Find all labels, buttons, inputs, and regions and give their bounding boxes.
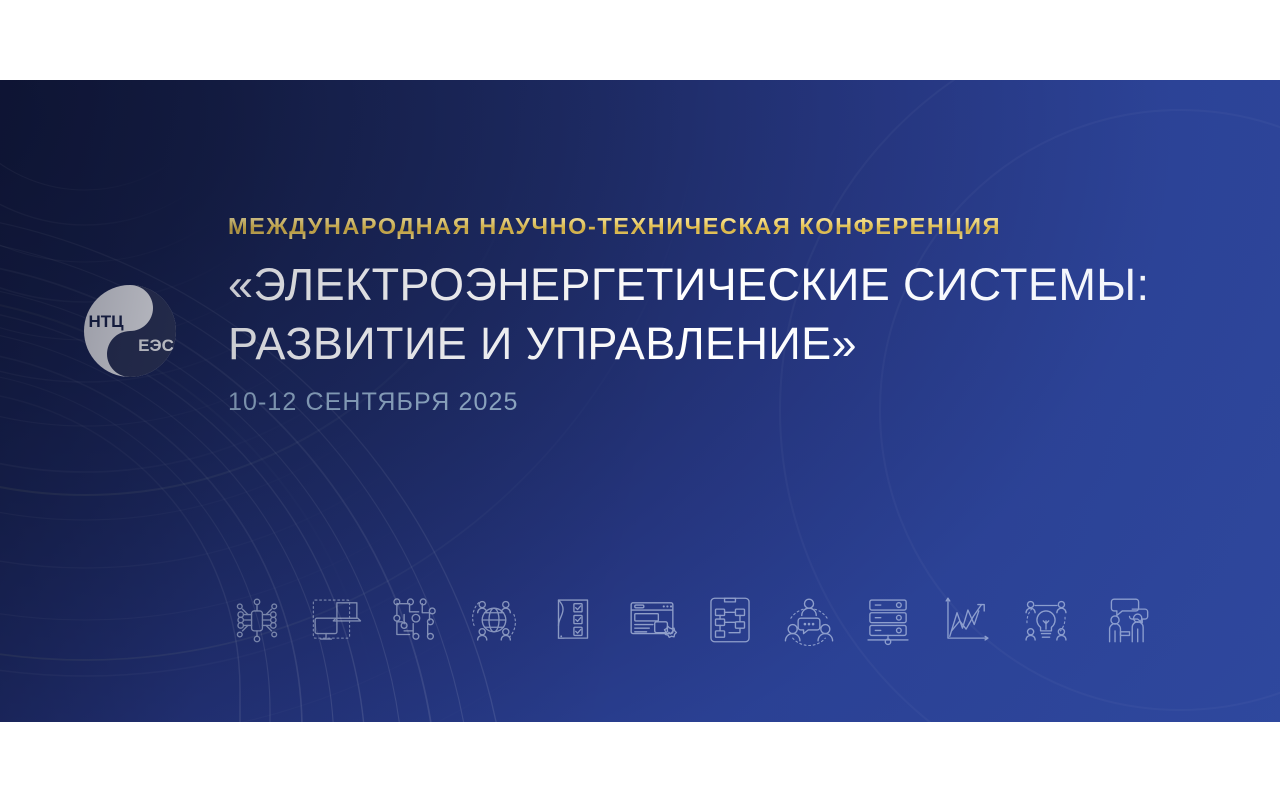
checklist-clipboard-icon — [542, 589, 604, 651]
page-title: «ЭЛЕКТРОЭНЕРГЕТИЧЕСКИЕ СИСТЕМЫ: РАЗВИТИЕ… — [228, 255, 1128, 374]
title-line-2: РАЗВИТИЕ И УПРАВЛЕНИЕ» — [228, 314, 1128, 373]
conference-banner: НТЦ ЕЭС МЕЖДУНАРОДНАЯ НАУЧНО-ТЕХНИЧЕСКАЯ… — [0, 80, 1280, 722]
conference-dates: 10-12 СЕНТЯБРЯ 2025 — [228, 388, 1128, 417]
global-network-icon — [463, 589, 525, 651]
line-chart-growth-icon — [936, 589, 998, 651]
flowchart-icon — [699, 589, 761, 651]
title-line-1: «ЭЛЕКТРОЭНЕРГЕТИЧЕСКИЕ СИСТЕМЫ: — [228, 259, 1149, 310]
conference-kicker: МЕЖДУНАРОДНАЯ НАУЧНО-ТЕХНИЧЕСКАЯ КОНФЕРЕ… — [228, 215, 1128, 239]
page-root: НТЦ ЕЭС МЕЖДУНАРОДНАЯ НАУЧНО-ТЕХНИЧЕСКАЯ… — [0, 0, 1280, 808]
idea-team-icon — [1015, 589, 1077, 651]
conference-text-block: МЕЖДУНАРОДНАЯ НАУЧНО-ТЕХНИЧЕСКАЯ КОНФЕРЕ… — [228, 215, 1128, 417]
laptop-desktop-icon — [305, 589, 367, 651]
ntc-ees-logo: НТЦ ЕЭС — [46, 247, 214, 415]
browser-verified-icon — [621, 589, 683, 651]
logo-svg: НТЦ ЕЭС — [46, 247, 214, 415]
circuit-board-icon — [384, 589, 446, 651]
logo-text-bottom: ЕЭС — [138, 336, 174, 355]
team-chat-icon — [778, 589, 840, 651]
theme-icon-strip — [226, 580, 1156, 660]
microchip-ai-icon — [226, 589, 288, 651]
logo-text-top: НТЦ — [88, 312, 124, 331]
presentation-people-icon — [1094, 589, 1156, 651]
server-rack-icon — [857, 589, 919, 651]
